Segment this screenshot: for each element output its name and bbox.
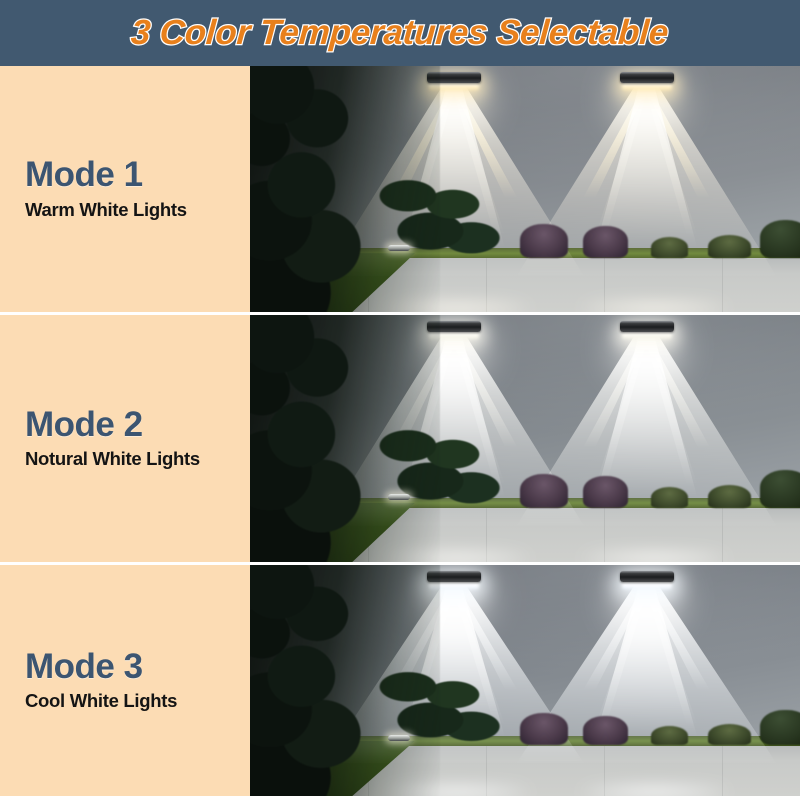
tree-silhouette-2 <box>250 315 440 562</box>
path-light-icon <box>388 735 410 741</box>
shrub <box>520 713 569 745</box>
shrub <box>708 724 751 745</box>
lamp-unit-right-1 <box>646 68 647 312</box>
path-light-icon <box>388 494 410 500</box>
light-pool-right <box>580 552 729 562</box>
shrub <box>520 474 569 508</box>
shrub <box>651 487 688 508</box>
mode-label-column-1: Mode 1 Warm White Lights <box>0 66 250 312</box>
mode-subtitle-3: Cool White Lights <box>25 690 250 712</box>
path-light-icon <box>388 245 410 251</box>
shrub <box>651 237 688 257</box>
mode-label-column-2: Mode 2 Notural White Lights <box>0 315 250 562</box>
mode-row-1: Mode 1 Warm White Lights <box>0 66 800 312</box>
lamp-unit-right-3 <box>646 567 647 796</box>
light-fixture-icon <box>620 571 674 582</box>
mode-photo-2 <box>250 315 800 562</box>
light-fixture-icon <box>620 72 674 83</box>
header-banner: 3 Color Temperatures Selectable <box>0 0 800 66</box>
bush-row-2 <box>514 468 800 508</box>
shrub <box>583 716 629 746</box>
mode-photo-3 <box>250 565 800 796</box>
shrub <box>520 224 569 258</box>
mode-subtitle-1: Warm White Lights <box>25 199 250 221</box>
mode-title-2: Mode 2 <box>25 407 250 444</box>
shrub <box>760 710 800 745</box>
lamp-unit-right-2 <box>646 317 647 562</box>
bush-row-3 <box>514 708 800 745</box>
shrub <box>583 476 629 508</box>
tree-silhouette-3 <box>250 565 440 796</box>
mode-label-column-3: Mode 3 Cool White Lights <box>0 565 250 796</box>
bush-row-1 <box>514 219 800 258</box>
light-fixture-icon <box>620 321 674 332</box>
mode-row-2: Mode 2 Notural White Lights <box>0 312 800 562</box>
mode-comparison-list: Mode 1 Warm White Lights <box>0 66 800 800</box>
mode-title-1: Mode 1 <box>25 157 250 194</box>
banner-title: 3 Color Temperatures Selectable <box>130 13 670 53</box>
mode-photo-1 <box>250 66 800 312</box>
shrub <box>651 726 688 745</box>
product-feature-graphic: 3 Color Temperatures Selectable Mode 1 W… <box>0 0 800 800</box>
mode-subtitle-2: Notural White Lights <box>25 448 250 470</box>
shrub <box>708 485 751 508</box>
light-pool-right <box>580 786 729 796</box>
shrub <box>583 226 629 257</box>
shrub <box>760 470 800 508</box>
tree-silhouette-1 <box>250 66 440 312</box>
mode-row-3: Mode 3 Cool White Lights <box>0 562 800 796</box>
shrub <box>760 220 800 258</box>
light-pool-right <box>580 302 729 312</box>
shrub <box>708 235 751 258</box>
mode-title-3: Mode 3 <box>25 649 250 686</box>
